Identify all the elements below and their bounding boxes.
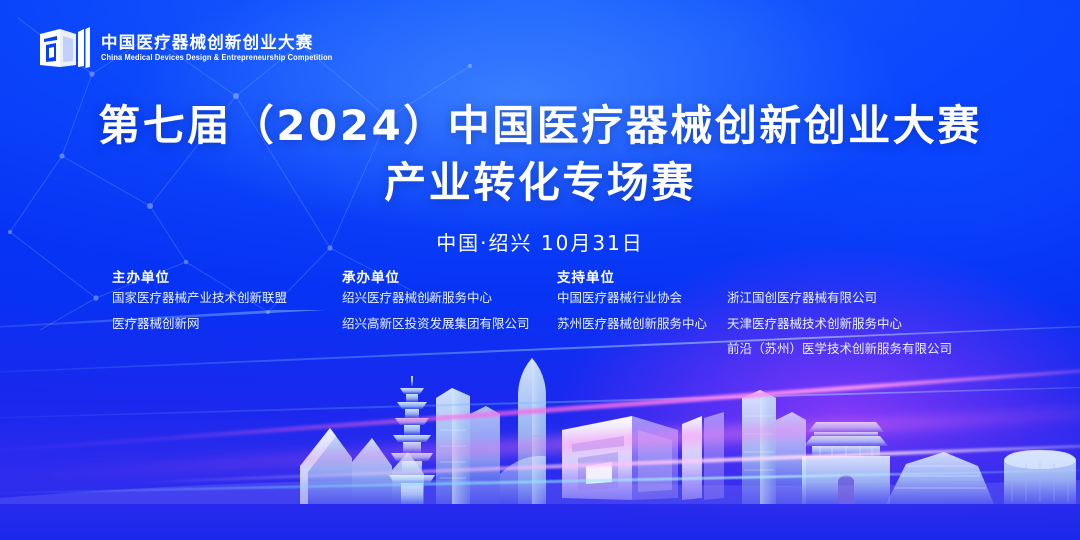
brand-name-en: China Medical Devices Design & Entrepren… <box>101 53 332 61</box>
organizer-column-supporter: 支持单位 中国医疗器械行业协会 苏州医疗器械创新服务中心 <box>557 266 727 369</box>
brand-text: 中国医疗器械创新创业大赛 China Medical Devices Desig… <box>101 35 332 61</box>
organizer-item: 医疗器械创新网 <box>112 318 342 331</box>
organizer-item: 浙江国创医疗器械有限公司 <box>727 292 1007 305</box>
hero-titles: 第七届（2024）中国医疗器械创新创业大赛 产业转化专场赛 中国·绍兴 10月3… <box>0 100 1080 256</box>
organizer-item: 国家医疗器械产业技术创新联盟 <box>112 292 342 305</box>
organizer-column-supporter-extra: 浙江国创医疗器械有限公司 天津医疗器械技术创新服务中心 前沿（苏州）医学技术创新… <box>727 266 1007 369</box>
organizer-item: 天津医疗器械技术创新服务中心 <box>727 318 1007 331</box>
organizer-heading: 支持单位 <box>557 266 727 282</box>
organizer-section: 主办单位 国家医疗器械产业技术创新联盟 医疗器械创新网 承办单位 绍兴医疗器械创… <box>112 266 1012 369</box>
organizer-item: 绍兴医疗器械创新服务中心 <box>342 292 557 305</box>
brand-logo[interactable]: 中国医疗器械创新创业大赛 China Medical Devices Desig… <box>38 24 332 72</box>
open-book-door-logo-icon <box>38 24 90 72</box>
organizer-heading: 承办单位 <box>342 266 557 282</box>
event-location-date: 中国·绍兴 10月31日 <box>0 227 1080 256</box>
poster-canvas: 中国医疗器械创新创业大赛 China Medical Devices Desig… <box>0 0 1080 540</box>
page-title-line1: 第七届（2024）中国医疗器械创新创业大赛 <box>0 100 1080 153</box>
organizer-heading: 主办单位 <box>112 266 342 282</box>
organizer-item: 绍兴高新区投资发展集团有限公司 <box>342 318 557 331</box>
page-title-line2: 产业转化专场赛 <box>0 157 1080 210</box>
organizer-item: 前沿（苏州）医学技术创新服务有限公司 <box>727 343 1007 356</box>
organizer-column-coorganizer: 承办单位 绍兴医疗器械创新服务中心 绍兴高新区投资发展集团有限公司 <box>342 266 557 369</box>
organizer-item: 中国医疗器械行业协会 <box>557 292 727 305</box>
organizer-item: 苏州医疗器械创新服务中心 <box>557 318 727 331</box>
brand-name-cn: 中国医疗器械创新创业大赛 <box>101 35 332 52</box>
organizer-column-host: 主办单位 国家医疗器械产业技术创新联盟 医疗器械创新网 <box>112 266 342 369</box>
